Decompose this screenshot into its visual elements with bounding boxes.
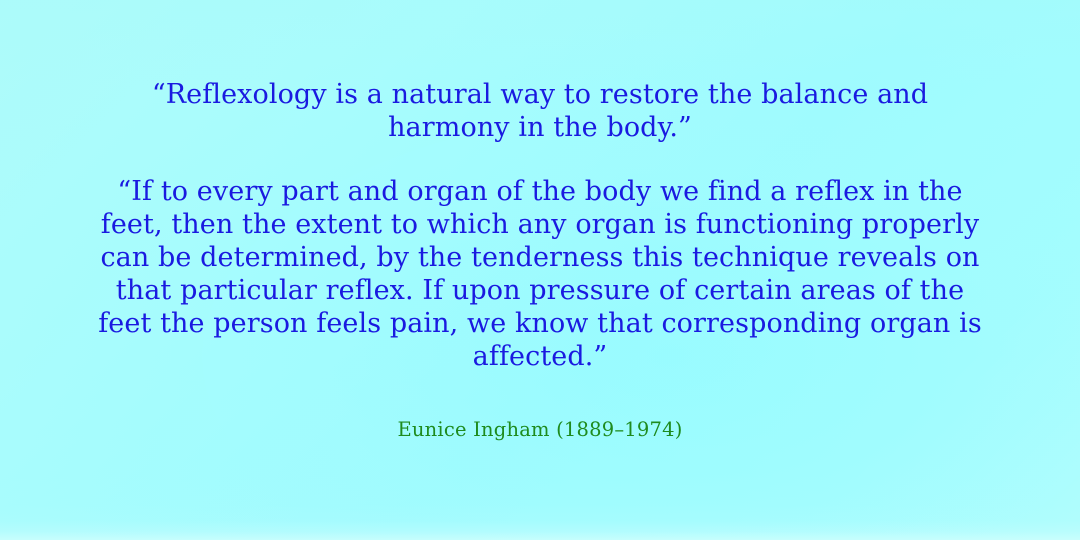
quote-slide: “Reflexology is a natural way to restore… [0, 0, 1080, 540]
slide-content: “Reflexology is a natural way to restore… [95, 0, 985, 540]
quote-attribution: Eunice Ingham (1889–1974) [397, 417, 682, 443]
quote-text-secondary: “If to every part and organ of the body … [95, 175, 985, 373]
quote-text-primary: “Reflexology is a natural way to restore… [95, 78, 985, 144]
